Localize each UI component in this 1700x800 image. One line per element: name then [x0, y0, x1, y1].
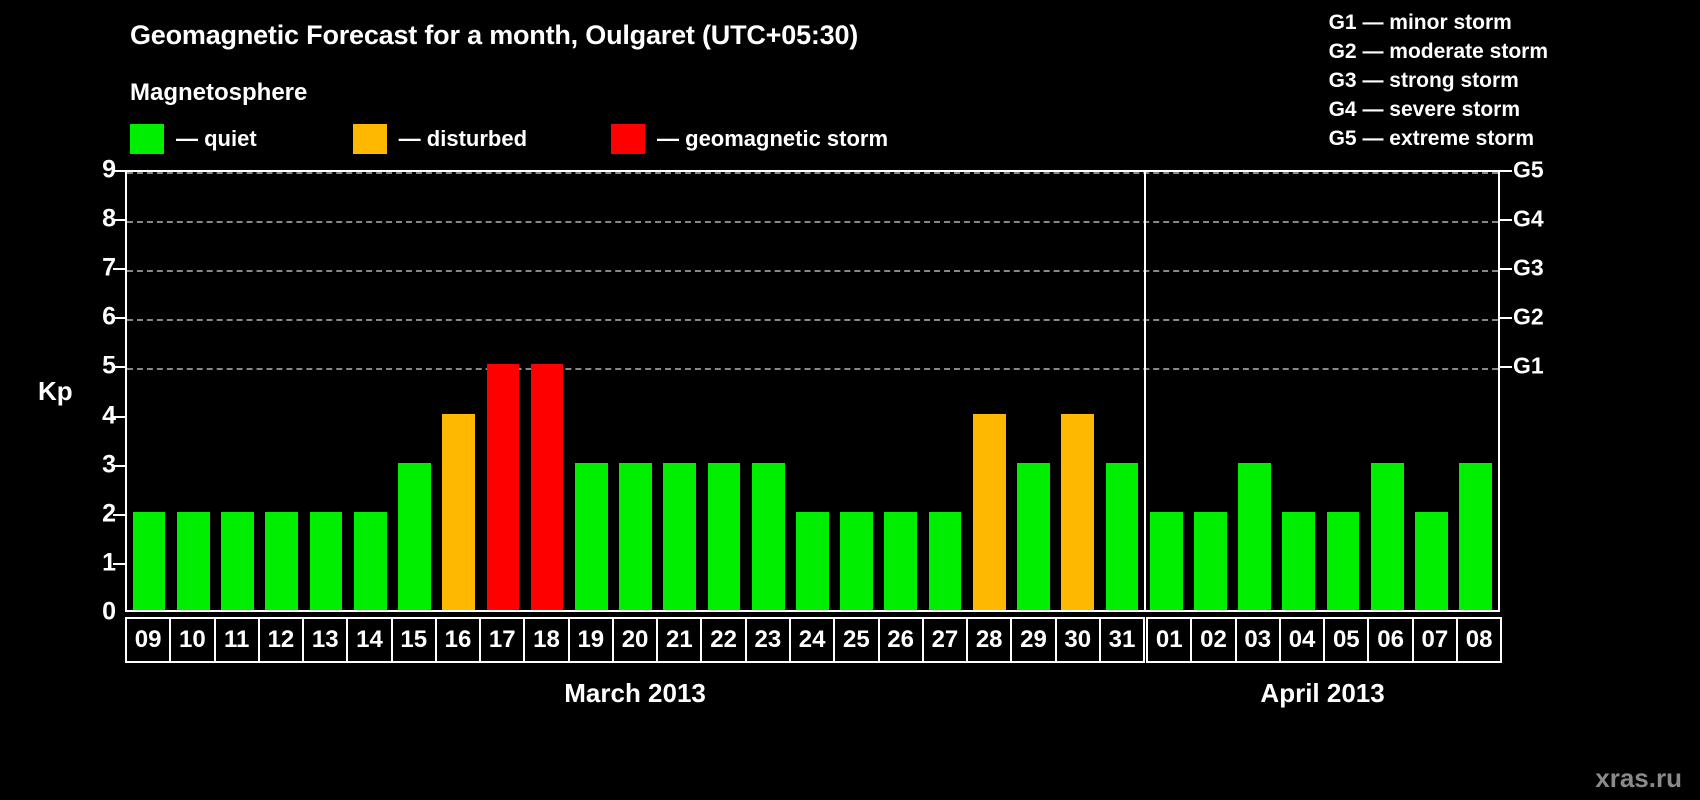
g-axis-label-G5: G5 — [1513, 157, 1544, 184]
bar-10-quiet — [177, 512, 210, 610]
day-label-16[interactable]: 16 — [435, 617, 481, 663]
bar-slot-25 — [835, 172, 879, 610]
legend-label-quiet: — quiet — [176, 126, 257, 152]
day-label-25[interactable]: 25 — [833, 617, 879, 663]
day-label-strip: 0910111213141516171819202122232425262728… — [125, 617, 1500, 663]
bar-17-storm — [487, 364, 520, 610]
day-label-22[interactable]: 22 — [700, 617, 746, 663]
bar-26-quiet — [884, 512, 917, 610]
bar-25-quiet — [840, 512, 873, 610]
day-label-28[interactable]: 28 — [966, 617, 1012, 663]
bar-12-quiet — [265, 512, 298, 610]
g-tick-mark-G4 — [1500, 219, 1512, 221]
legend-swatch-storm-icon — [611, 124, 645, 154]
bar-06-quiet — [1371, 463, 1404, 610]
day-label-15[interactable]: 15 — [391, 617, 437, 663]
g-tick-mark-G2 — [1500, 317, 1512, 319]
g-tick-mark-G3 — [1500, 268, 1512, 270]
day-label-26[interactable]: 26 — [878, 617, 924, 663]
legend-swatch-disturbed-icon — [353, 124, 387, 154]
bar-23-quiet — [752, 463, 785, 610]
bar-slot-18 — [525, 172, 569, 610]
legend-entry-disturbed: — disturbed — [353, 124, 527, 154]
g-scale-legend: G1 — minor stormG2 — moderate stormG3 — … — [1329, 8, 1548, 153]
day-label-07[interactable]: 07 — [1412, 617, 1458, 663]
day-label-01[interactable]: 01 — [1146, 617, 1192, 663]
g-axis-label-G4: G4 — [1513, 206, 1544, 233]
g-axis-label-G2: G2 — [1513, 304, 1544, 331]
y-axis-title: Kp — [38, 376, 73, 407]
bar-16-disturbed — [442, 414, 475, 610]
bar-slot-02 — [1188, 172, 1232, 610]
day-label-09[interactable]: 09 — [125, 617, 171, 663]
day-label-24[interactable]: 24 — [789, 617, 835, 663]
watermark: xras.ru — [1595, 763, 1682, 794]
day-label-04[interactable]: 04 — [1279, 617, 1325, 663]
bar-24-quiet — [796, 512, 829, 610]
bar-slot-10 — [171, 172, 215, 610]
y-tick-mark-8 — [113, 219, 125, 221]
bar-slot-17 — [481, 172, 525, 610]
bar-slot-28 — [967, 172, 1011, 610]
bar-slot-26 — [879, 172, 923, 610]
g-axis-labels: G1G2G3G4G5 — [1513, 170, 1573, 612]
legend-label-disturbed: — disturbed — [399, 126, 527, 152]
g-axis-label-G3: G3 — [1513, 255, 1544, 282]
bar-08-quiet — [1459, 463, 1492, 610]
bar-27-quiet — [929, 512, 962, 610]
month-label-march: March 2013 — [564, 678, 706, 709]
legend-label-storm: — geomagnetic storm — [657, 126, 888, 152]
y-tick-mark-6 — [113, 317, 125, 319]
bar-14-quiet — [354, 512, 387, 610]
g-tick-mark-G5 — [1500, 170, 1512, 172]
bar-30-disturbed — [1061, 414, 1094, 610]
g-tick-mark-G1 — [1500, 366, 1512, 368]
chart-plot-area — [125, 170, 1500, 612]
y-tick-mark-9 — [113, 170, 125, 172]
bar-21-quiet — [663, 463, 696, 610]
bar-slot-08 — [1454, 172, 1498, 610]
bar-slot-19 — [569, 172, 613, 610]
bar-13-quiet — [310, 512, 343, 610]
y-tick-mark-7 — [113, 268, 125, 270]
bar-slot-03 — [1232, 172, 1276, 610]
day-label-14[interactable]: 14 — [346, 617, 392, 663]
bar-22-quiet — [708, 463, 741, 610]
y-tick-label-0: 0 — [102, 598, 116, 627]
day-label-30[interactable]: 30 — [1055, 617, 1101, 663]
legend-swatch-quiet-icon — [130, 124, 164, 154]
day-label-29[interactable]: 29 — [1010, 617, 1056, 663]
day-label-06[interactable]: 06 — [1367, 617, 1413, 663]
day-label-13[interactable]: 13 — [302, 617, 348, 663]
bar-28-disturbed — [973, 414, 1006, 610]
y-tick-mark-2 — [113, 514, 125, 516]
day-label-19[interactable]: 19 — [568, 617, 614, 663]
bar-slot-06 — [1365, 172, 1409, 610]
page-title: Geomagnetic Forecast for a month, Oulgar… — [130, 20, 858, 51]
bar-15-quiet — [398, 463, 431, 610]
day-label-31[interactable]: 31 — [1099, 617, 1145, 663]
bar-18-storm — [531, 364, 564, 610]
bar-19-quiet — [575, 463, 608, 610]
bar-03-quiet — [1238, 463, 1271, 610]
day-label-17[interactable]: 17 — [479, 617, 525, 663]
day-label-18[interactable]: 18 — [523, 617, 569, 663]
day-label-02[interactable]: 02 — [1190, 617, 1236, 663]
g-scale-line-1: G1 — minor storm — [1329, 8, 1548, 37]
day-label-12[interactable]: 12 — [258, 617, 304, 663]
day-label-27[interactable]: 27 — [922, 617, 968, 663]
y-axis-labels: 0123456789 — [72, 170, 116, 612]
bar-slot-07 — [1409, 172, 1453, 610]
bar-01-quiet — [1150, 512, 1183, 610]
bar-slot-29 — [1011, 172, 1055, 610]
day-label-05[interactable]: 05 — [1323, 617, 1369, 663]
g-scale-line-3: G3 — strong storm — [1329, 66, 1548, 95]
bar-slot-01 — [1144, 172, 1188, 610]
bar-slot-21 — [658, 172, 702, 610]
bar-slot-13 — [304, 172, 348, 610]
bars-layer — [127, 172, 1498, 610]
bar-slot-16 — [437, 172, 481, 610]
day-label-08[interactable]: 08 — [1456, 617, 1502, 663]
y-tick-mark-1 — [113, 563, 125, 565]
bar-02-quiet — [1194, 512, 1227, 610]
bar-slot-27 — [923, 172, 967, 610]
magnetosphere-legend: — quiet— disturbed— geomagnetic storm — [130, 123, 888, 155]
bar-31-quiet — [1106, 463, 1139, 610]
day-label-20[interactable]: 20 — [612, 617, 658, 663]
day-label-11[interactable]: 11 — [214, 617, 260, 663]
bar-slot-31 — [1100, 172, 1144, 610]
bar-slot-09 — [127, 172, 171, 610]
day-label-21[interactable]: 21 — [656, 617, 702, 663]
legend-entry-quiet: — quiet — [130, 124, 257, 154]
day-label-23[interactable]: 23 — [745, 617, 791, 663]
bar-slot-15 — [392, 172, 436, 610]
bar-slot-04 — [1277, 172, 1321, 610]
bar-slot-22 — [702, 172, 746, 610]
g-scale-line-4: G4 — severe storm — [1329, 95, 1548, 124]
legend-entry-storm: — geomagnetic storm — [611, 124, 888, 154]
bar-slot-24 — [790, 172, 834, 610]
bar-slot-05 — [1321, 172, 1365, 610]
bar-slot-14 — [348, 172, 392, 610]
y-tick-mark-5 — [113, 366, 125, 368]
bar-slot-20 — [613, 172, 657, 610]
bar-20-quiet — [619, 463, 652, 610]
y-tick-mark-3 — [113, 465, 125, 467]
bar-slot-12 — [260, 172, 304, 610]
bar-07-quiet — [1415, 512, 1448, 610]
bar-11-quiet — [221, 512, 254, 610]
g-scale-line-5: G5 — extreme storm — [1329, 124, 1548, 153]
month-label-april: April 2013 — [1260, 678, 1384, 709]
magnetosphere-heading: Magnetosphere — [130, 79, 307, 107]
bar-04-quiet — [1282, 512, 1315, 610]
day-label-03[interactable]: 03 — [1235, 617, 1281, 663]
y-tick-mark-4 — [113, 416, 125, 418]
bar-slot-23 — [746, 172, 790, 610]
g-scale-line-2: G2 — moderate storm — [1329, 37, 1548, 66]
bar-slot-11 — [215, 172, 259, 610]
bar-09-quiet — [133, 512, 166, 610]
g-axis-label-G1: G1 — [1513, 353, 1544, 380]
bar-29-quiet — [1017, 463, 1050, 610]
day-label-10[interactable]: 10 — [169, 617, 215, 663]
bar-05-quiet — [1327, 512, 1360, 610]
bar-slot-30 — [1056, 172, 1100, 610]
